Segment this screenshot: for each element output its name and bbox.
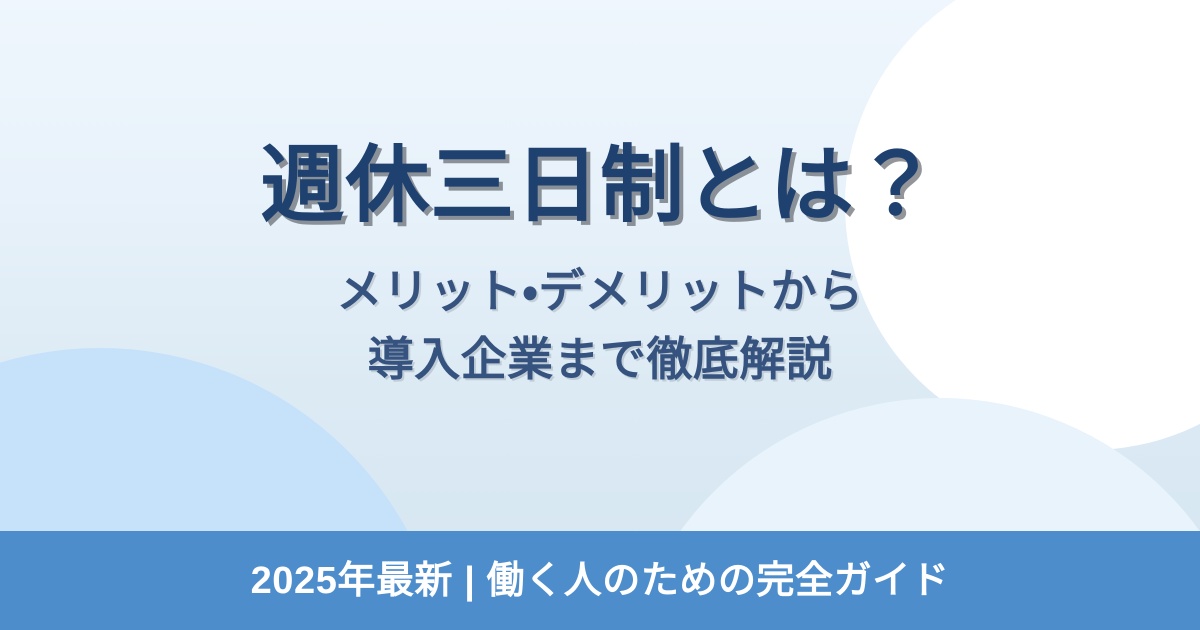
bottom-banner: 2025年最新 | 働く人のための完全ガイド <box>0 531 1200 630</box>
headline-block: 週休三日制とは？ メリット・デメリットから 導入企業まで徹底解説 <box>0 0 1200 531</box>
page-subtitle: メリット・デメリットから 導入企業まで徹底解説 <box>296 258 903 392</box>
subtitle-line-1: メリット・デメリットから <box>336 258 863 325</box>
subtitle-line-2: 導入企業まで徹底解説 <box>336 326 863 393</box>
page-title: 週休三日制とは？ <box>221 138 980 232</box>
banner-tagline: 2025年最新 | 働く人のための完全ガイド <box>251 562 950 600</box>
ogp-card: 週休三日制とは？ メリット・デメリットから 導入企業まで徹底解説 2025年最新… <box>0 0 1200 630</box>
